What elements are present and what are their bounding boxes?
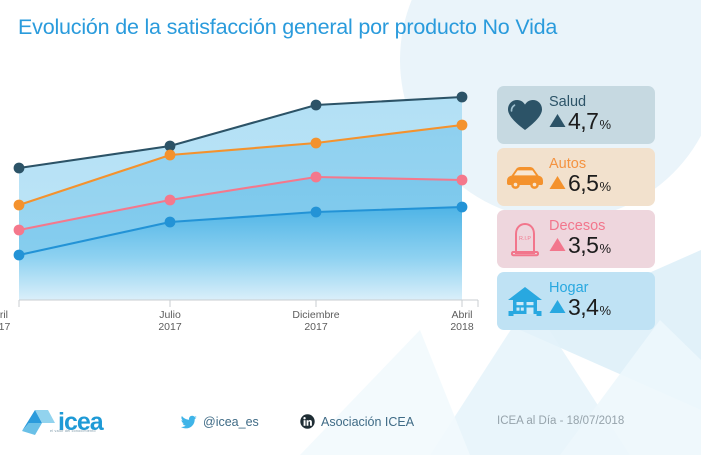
- legend-card-text: Hogar 3,4 %: [549, 281, 611, 322]
- svg-text:R.I.P: R.I.P: [519, 236, 531, 242]
- chart-canvas: [0, 60, 495, 360]
- linkedin-icon: [300, 414, 315, 429]
- up-arrow-icon: [549, 175, 566, 197]
- data-point: [457, 92, 468, 103]
- legend-value: 3,4: [568, 296, 598, 318]
- legend-panel: Salud 4,7 %: [497, 86, 655, 334]
- legend-value-row: 4,7 %: [549, 110, 611, 136]
- twitter-handle: @icea_es: [203, 415, 259, 429]
- legend-unit: %: [599, 176, 611, 198]
- data-point: [14, 163, 25, 174]
- data-point: [165, 195, 176, 206]
- x-tick-label-0: Abril 2017: [0, 310, 57, 333]
- house-icon: [503, 279, 547, 323]
- data-point: [165, 217, 176, 228]
- page-title: Evolución de la satisfacción general por…: [18, 15, 557, 40]
- publication-stamp: ICEA al Día - 18/07/2018: [497, 415, 624, 427]
- data-point: [14, 250, 25, 261]
- data-point: [311, 207, 322, 218]
- x-tick-month: Julio: [135, 310, 205, 322]
- legend-value: 4,7: [568, 110, 598, 132]
- twitter-link[interactable]: @icea_es: [180, 414, 259, 429]
- legend-card-autos[interactable]: Autos 6,5 %: [497, 148, 655, 206]
- linkedin-link[interactable]: Asociación ICEA: [300, 414, 414, 429]
- heart-icon: [503, 93, 547, 137]
- x-tick-month: Abril: [0, 310, 57, 322]
- data-point: [14, 200, 25, 211]
- x-tick-month: Diciembre: [281, 310, 351, 322]
- legend-card-text: Decesos 3,5 %: [549, 219, 611, 260]
- car-icon: [503, 155, 547, 199]
- twitter-icon: [180, 414, 197, 429]
- x-tick-label-3: Abril 2018: [427, 310, 497, 333]
- tombstone-icon: R.I.P: [503, 217, 547, 261]
- linkedin-name: Asociación ICEA: [321, 415, 414, 429]
- chart-area-fills: [19, 97, 462, 300]
- legend-card-text: Salud 4,7 %: [549, 95, 611, 136]
- legend-card-text: Autos 6,5 %: [549, 157, 611, 198]
- line-chart: Abril 2017 Julio 2017 Diciembre 2017 Abr…: [0, 60, 495, 360]
- logo-tagline: el valor del conocimiento: [50, 429, 96, 433]
- up-arrow-icon: [549, 237, 566, 259]
- legend-card-decesos[interactable]: R.I.P Decesos 3,5 %: [497, 210, 655, 268]
- x-tick-label-1: Julio 2017: [135, 310, 205, 333]
- data-point: [457, 120, 468, 131]
- legend-unit: %: [599, 114, 611, 136]
- data-point: [311, 138, 322, 149]
- icea-logo[interactable]: icea: [18, 404, 130, 444]
- legend-card-salud[interactable]: Salud 4,7 %: [497, 86, 655, 144]
- x-tick-year: 2017: [0, 322, 57, 334]
- data-point: [457, 175, 468, 186]
- legend-value-row: 3,4 %: [549, 296, 611, 322]
- up-arrow-icon: [549, 113, 566, 135]
- x-tick-year: 2018: [427, 322, 497, 334]
- x-tick-month: Abril: [427, 310, 497, 322]
- x-tick-year: 2017: [135, 322, 205, 334]
- data-point: [311, 100, 322, 111]
- legend-unit: %: [599, 300, 611, 322]
- up-arrow-icon: [549, 299, 566, 321]
- legend-card-hogar[interactable]: Hogar 3,4 %: [497, 272, 655, 330]
- data-point: [165, 150, 176, 161]
- infographic-canvas: Evolución de la satisfacción general por…: [0, 0, 701, 455]
- legend-value: 6,5: [568, 172, 598, 194]
- chart-axis: [19, 300, 478, 307]
- data-point: [311, 172, 322, 183]
- data-point: [457, 202, 468, 213]
- legend-value: 3,5: [568, 234, 598, 256]
- data-point: [14, 225, 25, 236]
- footer: icea el valor del conocimiento @icea_es …: [0, 396, 701, 455]
- legend-unit: %: [599, 238, 611, 260]
- legend-value-row: 6,5 %: [549, 172, 611, 198]
- legend-value-row: 3,5 %: [549, 234, 611, 260]
- x-tick-year: 2017: [281, 322, 351, 334]
- x-tick-label-2: Diciembre 2017: [281, 310, 351, 333]
